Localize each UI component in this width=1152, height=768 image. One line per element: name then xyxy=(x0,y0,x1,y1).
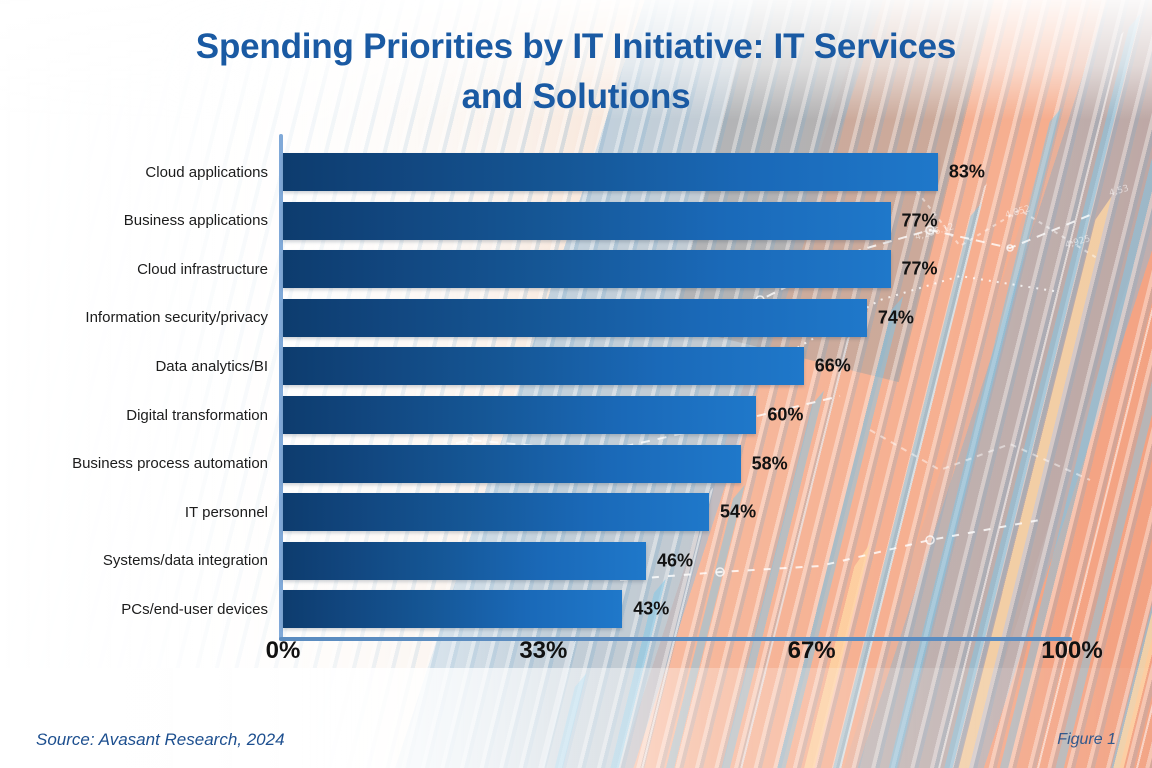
category-label: Cloud infrastructure xyxy=(137,250,268,288)
category-label: IT personnel xyxy=(185,493,268,531)
category-label: Business applications xyxy=(124,202,268,240)
bar-value-label: 54% xyxy=(709,502,756,523)
bar-row: 54% xyxy=(283,493,1072,531)
source-note: Source: Avasant Research, 2024 xyxy=(36,730,285,750)
bar[interactable] xyxy=(283,590,622,628)
bar[interactable] xyxy=(283,396,756,434)
category-label: Cloud applications xyxy=(145,153,268,191)
bar[interactable] xyxy=(283,202,891,240)
slide-canvas: 4,156.12 4,852 4,925 4,53 .14 Spending P… xyxy=(0,0,1152,768)
bar[interactable] xyxy=(283,445,741,483)
x-tick-label: 0% xyxy=(266,637,301,665)
bar-row: 74% xyxy=(283,299,1072,337)
bar[interactable] xyxy=(283,250,891,288)
category-label: Systems/data integration xyxy=(103,542,268,580)
figure-caption: Figure 1 xyxy=(1057,731,1116,749)
category-label: Digital transformation xyxy=(126,396,268,434)
x-axis-tick-labels: 0%33%67%100% xyxy=(283,637,1072,677)
bar-value-label: 83% xyxy=(938,162,985,183)
chart-title-line-2: and Solutions xyxy=(76,72,1076,122)
bar-value-label: 77% xyxy=(891,210,938,231)
bar[interactable] xyxy=(283,347,804,385)
category-label: Data analytics/BI xyxy=(155,347,268,385)
x-tick-label: 33% xyxy=(519,637,567,665)
bar[interactable] xyxy=(283,153,938,191)
bar-row: 58% xyxy=(283,445,1072,483)
category-label: Business process automation xyxy=(72,445,268,483)
bar-row: 77% xyxy=(283,202,1072,240)
bar[interactable] xyxy=(283,299,867,337)
bar-value-label: 46% xyxy=(646,550,693,571)
bar-row: 60% xyxy=(283,396,1072,434)
plot-area: 83%77%77%74%66%60%58%54%46%43% xyxy=(283,140,1072,635)
chart-title-line-1: Spending Priorities by IT Initiative: IT… xyxy=(76,22,1076,72)
bar-row: 66% xyxy=(283,347,1072,385)
bar-value-label: 60% xyxy=(756,405,803,426)
bar-value-label: 43% xyxy=(622,599,669,620)
bar-row: 77% xyxy=(283,250,1072,288)
bar-value-label: 66% xyxy=(804,356,851,377)
bar-value-label: 58% xyxy=(741,453,788,474)
x-tick-label: 67% xyxy=(788,637,836,665)
bar-row: 43% xyxy=(283,590,1072,628)
x-tick-label: 100% xyxy=(1041,637,1102,665)
bar[interactable] xyxy=(283,542,646,580)
bar-row: 83% xyxy=(283,153,1072,191)
category-axis-labels: Cloud applicationsBusiness applicationsC… xyxy=(0,140,283,635)
category-label: Information security/privacy xyxy=(85,299,268,337)
bar-value-label: 77% xyxy=(891,259,938,280)
bar-value-label: 74% xyxy=(867,307,914,328)
bar-row: 46% xyxy=(283,542,1072,580)
category-label: PCs/end-user devices xyxy=(121,590,268,628)
bar[interactable] xyxy=(283,493,709,531)
chart-title: Spending Priorities by IT Initiative: IT… xyxy=(76,22,1076,121)
